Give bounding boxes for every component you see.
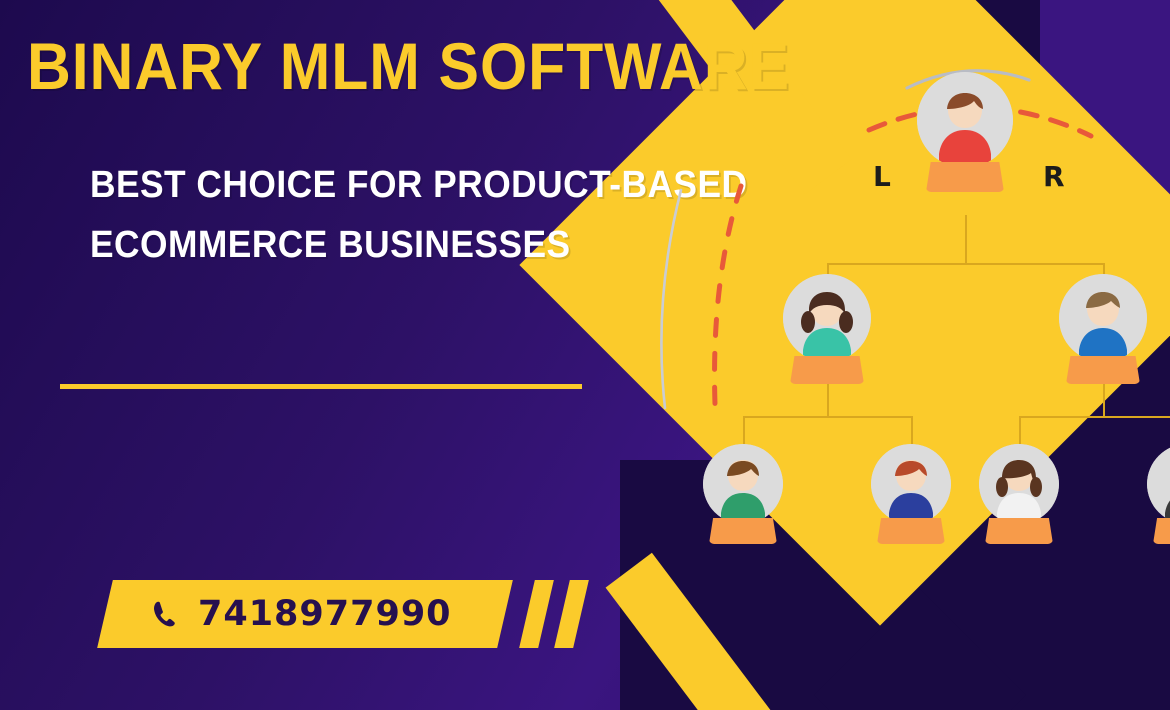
desk [926,162,1004,192]
phone-cta-content[interactable]: 7418977990 [120,580,520,648]
phone-number[interactable]: 7418977990 [198,594,452,634]
desk [790,356,864,384]
desk [877,518,945,544]
desk [1153,518,1170,544]
avatar [871,444,951,524]
edge-left-bar [743,416,913,418]
avatar [703,444,783,524]
subtitle-line-2: ECOMMERCE BUSINESSES [90,215,571,275]
right-leg-label: R [1043,160,1065,193]
desk [709,518,777,544]
swoosh-decoration [625,180,755,410]
edge-to-ll-node [743,416,745,444]
edge-right-bar [1019,416,1170,418]
avatar [783,274,871,362]
avatar [979,444,1059,524]
promotional-banner: BINARY MLM SOFTWARE BEST CHOICE FOR PROD… [0,0,1170,710]
left-leg-label: L [873,160,891,193]
edge-root-stem [965,215,967,263]
avatar [1059,274,1147,362]
edge-to-lr-node [911,416,913,444]
binary-tree-diagram: L R [625,0,1170,710]
edge-root-bar [827,263,1105,265]
yellow-divider [60,384,582,389]
avatar [917,72,1013,168]
avatar [1147,444,1170,524]
edge-to-rl-node [1019,416,1021,444]
desk [1066,356,1140,384]
desk [985,518,1053,544]
phone-handset-icon [150,598,180,630]
